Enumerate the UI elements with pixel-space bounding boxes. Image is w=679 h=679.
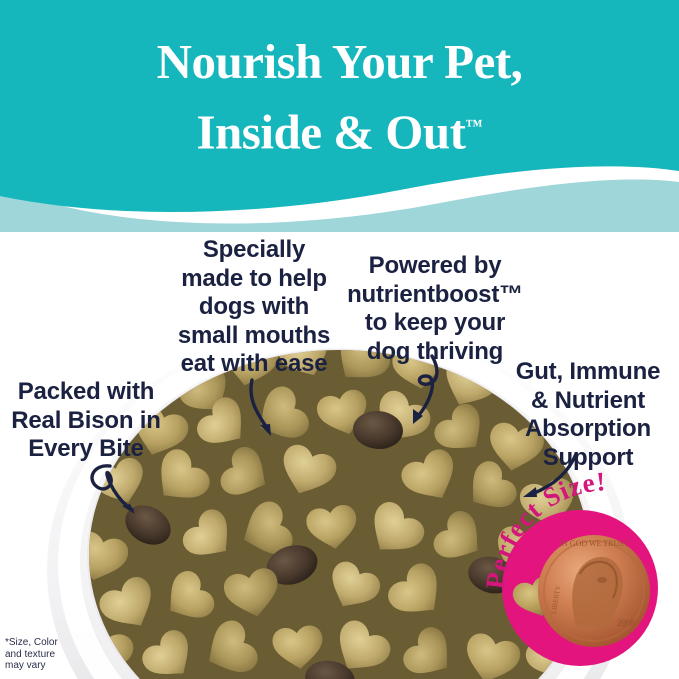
trademark-symbol: ™ [466, 116, 483, 135]
callout-line: Packed with [0, 378, 176, 407]
headline-line-2: Inside & Out™ [0, 94, 679, 164]
callout-real-bison: Packed with Real Bison in Every Bite [0, 378, 176, 464]
promo-image: Nourish Your Pet, Inside & Out™ [0, 0, 679, 679]
callout-line: nutrientboost™ [345, 281, 525, 310]
callout-line: Every Bite [0, 435, 176, 464]
headline-line-1: Nourish Your Pet, [0, 30, 679, 94]
disclaimer-text: *Size, Color and texture may vary [5, 637, 97, 672]
callout-line: Real Bison in [0, 407, 176, 436]
coin-year: 2008 [617, 618, 636, 628]
callout-line: Specially [168, 236, 340, 265]
callout-line: eat with ease [168, 350, 340, 379]
callout-line: Gut, Immune [500, 358, 676, 387]
callout-nutrientboost: Powered by nutrientboost™ to keep your d… [345, 252, 525, 366]
callout-line: to keep your [345, 309, 525, 338]
perfect-size-badge: IN GOD WE TRUST LIBERTY 2008 Perfect Siz… [492, 478, 679, 679]
perfect-size-badge-graphic: IN GOD WE TRUST LIBERTY 2008 Perfect Siz… [492, 478, 679, 679]
arrow-curl-icon-nutrientboost [404, 354, 450, 438]
callout-line: made to help [168, 265, 340, 294]
disclaimer-line: may vary [5, 660, 97, 672]
callout-specially-made: Specially made to help dogs with small m… [168, 236, 340, 379]
arrow-curl-icon-bison [86, 462, 146, 524]
callout-line: small mouths [168, 322, 340, 351]
penny-coin: IN GOD WE TRUST LIBERTY 2008 [538, 535, 650, 647]
disclaimer-line: *Size, Color [5, 637, 97, 649]
header-banner: Nourish Your Pet, Inside & Out™ [0, 0, 679, 232]
callout-line: Absorption [500, 415, 676, 444]
arrow-down-icon-mouths [246, 378, 290, 444]
disclaimer-line: and texture [5, 649, 97, 661]
callout-line: dogs with [168, 293, 340, 322]
callout-line: & Nutrient [500, 387, 676, 416]
coin-motto: IN GOD WE TRUST [559, 539, 628, 548]
callout-line: Powered by [345, 252, 525, 281]
headline-line-2-text: Inside & Out [196, 104, 465, 159]
page-title: Nourish Your Pet, Inside & Out™ [0, 30, 679, 164]
